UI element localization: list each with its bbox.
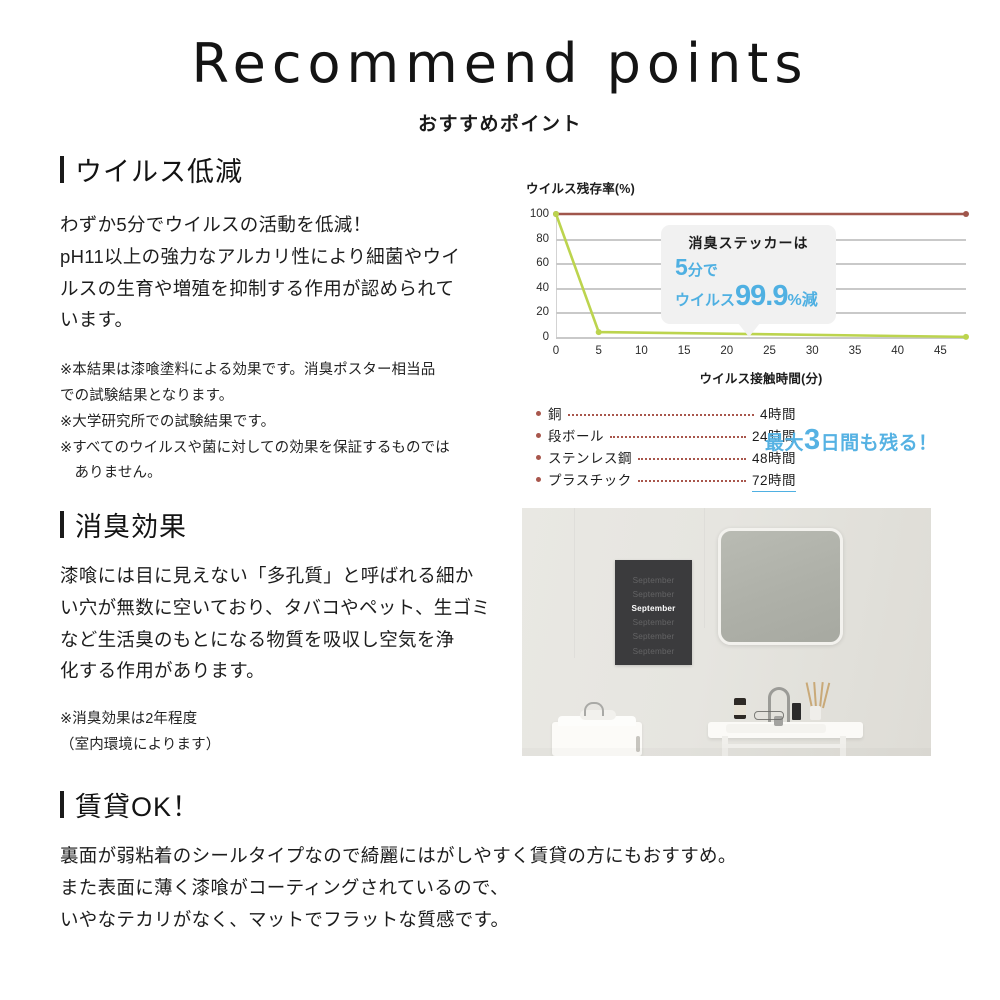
legend-dot-icon <box>536 477 541 482</box>
series-point <box>963 334 969 340</box>
legend-dot-icon <box>536 411 541 416</box>
legend-duration-value: 72時間 <box>752 470 796 493</box>
section-heading-virus: ウイルス低減 <box>60 150 520 189</box>
reed-diffuser-jar <box>810 706 821 720</box>
legend-leader-dots-icon <box>638 457 746 460</box>
poster-line: September <box>615 630 692 644</box>
heading-bar-icon <box>60 511 64 538</box>
note-line: ※すべてのウイルスや菌に対しての効果を保証するものでは <box>60 436 520 462</box>
callout-percent-value: 99.9 <box>735 280 787 312</box>
section-virus-reduction: ウイルス低減 わずか5分でウイルスの活動を低減！ pH11以上の強力なアルカリ性… <box>60 150 520 487</box>
legend-material-label: プラスチック <box>548 470 632 492</box>
x-tick-label: 40 <box>891 345 904 357</box>
heading-bar-icon <box>60 156 64 183</box>
max-days-suffix: 日間も残る！ <box>821 433 938 454</box>
body-line: いやなテカリがなく、マットでフラットな質感です。 <box>60 904 850 936</box>
legend-dot-icon <box>536 433 541 438</box>
callout-minutes-tail: で <box>703 262 718 279</box>
y-tick-label: 80 <box>536 233 549 245</box>
x-tick-label: 10 <box>635 345 648 357</box>
y-tick-label: 40 <box>536 282 549 294</box>
section-rental-ok: 賃貸OK！ 裏面が弱粘着のシールタイプなので綺麗にはがしやすく賃貸の方にもおすす… <box>60 785 850 935</box>
body-line: います。 <box>60 304 520 336</box>
x-tick-label: 15 <box>678 345 691 357</box>
chart-y-axis-title: ウイルス残存率(%) <box>526 178 635 197</box>
x-tick-label: 5 <box>595 345 601 357</box>
callout-line-1: 消臭ステッカーは <box>671 234 826 252</box>
callout-reduce-label: 減 <box>802 292 818 309</box>
note-line: での試験結果となります。 <box>60 384 520 410</box>
x-tick-label: 20 <box>720 345 733 357</box>
eyeglasses <box>754 711 784 720</box>
wall-mirror <box>718 528 843 645</box>
section-title-rent: 賃貸OK！ <box>75 785 200 824</box>
legend-item: 銅 4時間 <box>536 404 796 426</box>
callout-minutes-unit: 分 <box>688 262 703 279</box>
section-notes-odor: ※消臭効果は2年程度 （室内環境によります） <box>60 707 515 759</box>
poster-line: September <box>615 574 692 588</box>
page-header: Recommend points おすすめポイント <box>0 36 1000 136</box>
body-line: 漆喰には目に見えない「多孔質」と呼ばれる細か <box>60 560 515 592</box>
body-line: pH11以上の強力なアルカリ性により細菌やウイ <box>60 241 520 273</box>
survival-duration-legend: 銅 4時間 段ボール 24時間 ステンレス鋼 48時間 プラスチック 72時間 <box>536 404 796 492</box>
series-point <box>553 211 559 217</box>
poster-line: September <box>615 645 692 659</box>
body-line: 化する作用があります。 <box>60 655 515 687</box>
note-line: ※大学研究所での試験結果です。 <box>60 410 520 436</box>
max-days-prefix: 最大 <box>765 433 804 454</box>
body-line: 裏面が弱粘着のシールタイプなので綺麗にはがしやすく賃貸の方にもおすすめ。 <box>60 840 850 872</box>
body-line: い穴が無数に空いており、タバコやペット、生ゴミ <box>60 592 515 624</box>
section-heading-rent: 賃貸OK！ <box>60 785 850 824</box>
callout-virus-label: ウイルス <box>675 292 735 309</box>
legend-item: ステンレス鋼 48時間 <box>536 448 796 470</box>
y-tick-label: 20 <box>536 306 549 318</box>
section-title-virus: ウイルス低減 <box>75 150 243 189</box>
september-poster: September September September September … <box>615 560 692 665</box>
body-line: など生活臭のもとになる物質を吸収し空気を浄 <box>60 624 515 656</box>
legend-dot-icon <box>536 455 541 460</box>
y-tick-label: 0 <box>543 331 549 343</box>
section-body-virus: わずか5分でウイルスの活動を低減！ pH11以上の強力なアルカリ性により細菌やウ… <box>60 209 520 336</box>
x-tick-label: 0 <box>553 345 559 357</box>
y-tick-label: 100 <box>530 208 549 220</box>
amenity-bottle-label <box>734 705 746 715</box>
poster-line: September <box>615 588 692 602</box>
x-tick-label: 35 <box>849 345 862 357</box>
reed-stick <box>813 682 816 708</box>
body-line: また表面に薄く漆喰がコーティングされているので、 <box>60 872 850 904</box>
section-heading-odor: 消臭効果 <box>60 505 515 544</box>
body-line: ルスの生育や増殖を抑制する作用が認められて <box>60 273 520 305</box>
photo-wall-seam <box>574 508 575 658</box>
x-tick-label: 45 <box>934 345 947 357</box>
note-line: ※消臭効果は2年程度 <box>60 707 515 733</box>
legend-duration-value: 4時間 <box>760 404 796 426</box>
legend-item: 段ボール 24時間 <box>536 426 796 448</box>
body-line: わずか5分でウイルスの活動を低減！ <box>60 209 520 241</box>
legend-material-label: ステンレス鋼 <box>548 448 632 470</box>
max-days-badge: 最大3日間も残る！ <box>765 424 938 457</box>
x-tick-label: 25 <box>763 345 776 357</box>
callout-minutes-value: 5 <box>675 254 688 280</box>
perfume-bottle <box>792 703 801 720</box>
note-line: （室内環境によります） <box>60 733 515 759</box>
virus-survival-chart: ウイルス残存率(%) 0 20 40 60 80 100 0 5 10 15 2… <box>524 178 974 393</box>
callout-line-2: 5分で <box>671 254 826 280</box>
section-title-odor: 消臭効果 <box>75 505 187 544</box>
y-tick-label: 60 <box>536 257 549 269</box>
poster-line-active: September <box>615 602 692 616</box>
chart-callout: 消臭ステッカーは 5分で ウイルス99.9%減 <box>661 225 836 324</box>
callout-line-3: ウイルス99.9%減 <box>671 281 826 313</box>
section-notes-virus: ※本結果は漆喰塗料による効果です。消臭ポスター相当品 での試験結果となります。 … <box>60 358 520 487</box>
recommend-points-page: Recommend points おすすめポイント ウイルス低減 わずか5分でウ… <box>0 0 1000 1000</box>
callout-percent-sign: % <box>787 292 801 309</box>
reed-sticks <box>810 682 824 708</box>
series-point <box>963 211 969 217</box>
legend-leader-dots-icon <box>610 435 746 438</box>
chart-plot-area: 0 20 40 60 80 100 0 5 10 15 20 25 30 35 … <box>556 214 966 337</box>
photo-wall-seam <box>704 508 705 628</box>
chart-x-axis-title: ウイルス接触時間(分) <box>556 368 966 387</box>
bathroom-photo: September September September September … <box>522 508 931 756</box>
poster-line: September <box>615 616 692 630</box>
page-subtitle: おすすめポイント <box>0 109 1000 136</box>
legend-item: プラスチック 72時間 <box>536 470 796 493</box>
legend-material-label: 段ボール <box>548 426 604 448</box>
section-body-odor: 漆喰には目に見えない「多孔質」と呼ばれる細か い穴が無数に空いており、タバコやペ… <box>60 560 515 687</box>
max-days-number: 3 <box>804 424 821 456</box>
legend-leader-dots-icon <box>638 479 746 482</box>
note-line: ありません。 <box>60 461 520 487</box>
photo-floor-line <box>522 748 931 756</box>
page-title: Recommend points <box>0 36 1000 93</box>
series-point <box>596 329 602 335</box>
x-tick-label: 30 <box>806 345 819 357</box>
toilet-tap-icon <box>584 702 604 716</box>
section-odor-elimination: 消臭効果 漆喰には目に見えない「多孔質」と呼ばれる細か い穴が無数に空いており、… <box>60 505 515 759</box>
section-body-rent: 裏面が弱粘着のシールタイプなので綺麗にはがしやすく賃貸の方にもおすすめ。 また表… <box>60 840 850 935</box>
note-line: ※本結果は漆喰塗料による効果です。消臭ポスター相当品 <box>60 358 520 384</box>
heading-bar-icon <box>60 791 64 818</box>
legend-material-label: 銅 <box>548 404 562 426</box>
legend-leader-dots-icon <box>568 413 754 416</box>
